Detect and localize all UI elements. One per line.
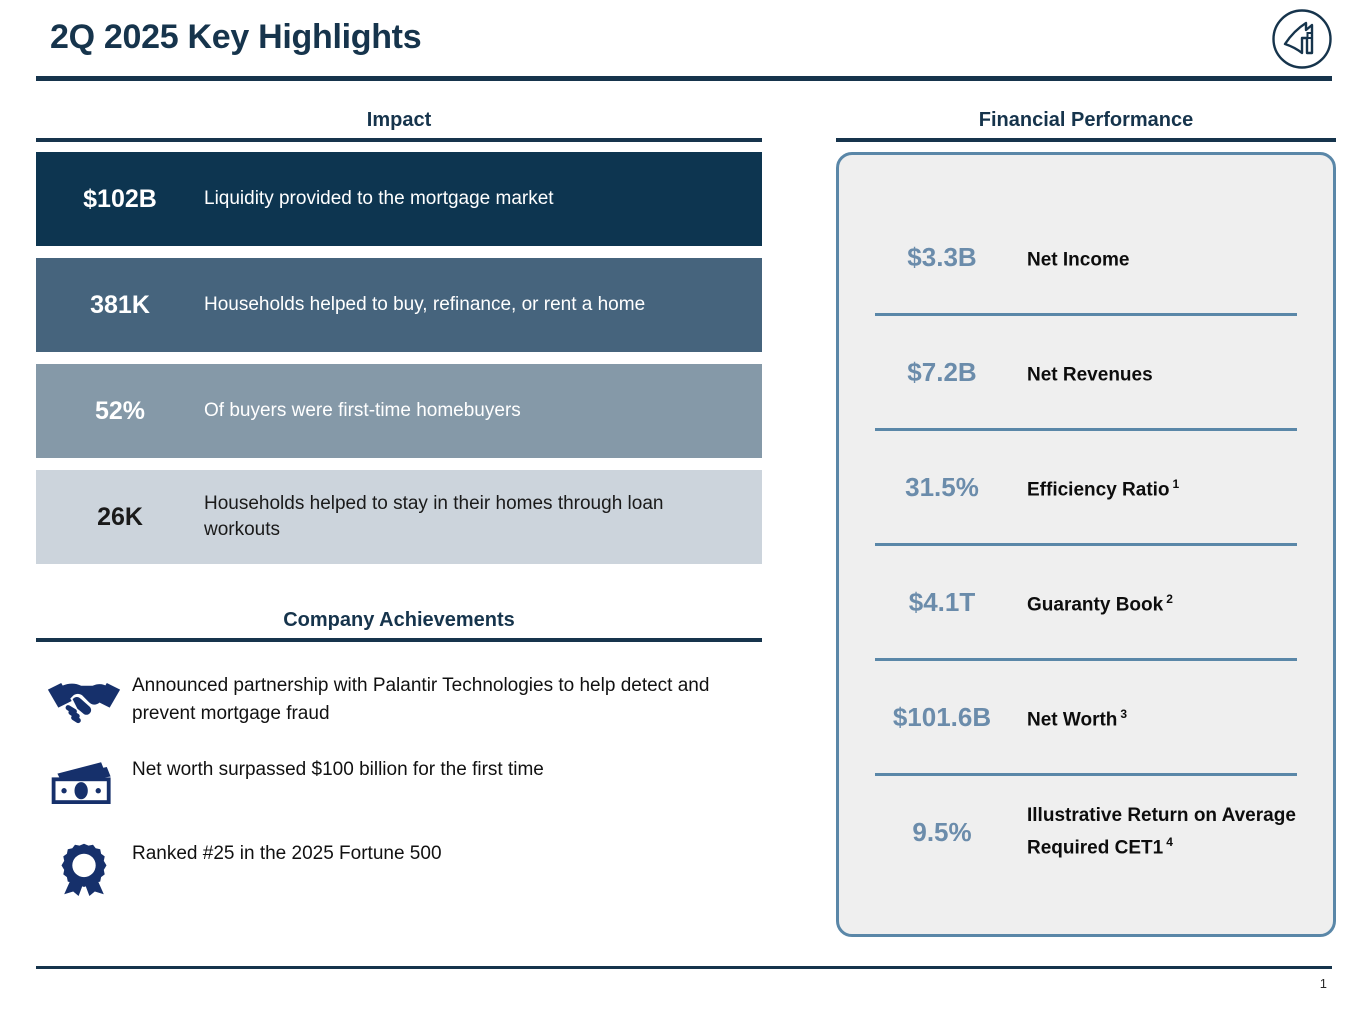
financial-metric-row: $7.2B Net Revenues: [839, 316, 1333, 428]
impact-bar: 52% Of buyers were first-time homebuyers: [36, 364, 762, 458]
cash-icon: [36, 752, 132, 816]
achievement-item: Announced partnership with Palantir Tech…: [36, 668, 762, 752]
financial-metric-label-text: Net Worth: [1027, 709, 1117, 730]
house-circle-logo-icon: [1271, 8, 1333, 70]
impact-bar: $102B Liquidity provided to the mortgage…: [36, 152, 762, 246]
footnote-marker: [1129, 247, 1132, 261]
achievement-text: Ranked #25 in the 2025 Fortune 500: [132, 836, 762, 868]
impact-bar: 26K Households helped to stay in their h…: [36, 470, 762, 564]
impact-bar-label: Households helped to buy, refinance, or …: [204, 292, 762, 318]
header-divider: [36, 76, 1332, 81]
financial-heading-rule: [836, 138, 1336, 142]
financial-metric-label: Illustrative Return on Average Required …: [1017, 803, 1305, 861]
financial-metric-value: $7.2B: [867, 357, 1017, 387]
footnote-marker: 1: [1170, 477, 1180, 491]
financial-metric-label-text: Net Revenues: [1027, 364, 1153, 385]
achievement-text: Announced partnership with Palantir Tech…: [132, 668, 762, 728]
achievement-item: Net worth surpassed $100 billion for the…: [36, 752, 762, 836]
financial-metric-row: $101.6B Net Worth3: [839, 661, 1333, 773]
financial-metric-label-text: Illustrative Return on Average Required …: [1027, 805, 1296, 858]
page-number: 1: [1320, 976, 1327, 991]
financial-metric-label: Efficiency Ratio1: [1017, 471, 1305, 503]
footnote-marker: 3: [1117, 707, 1127, 721]
impact-section: Impact $102B Liquidity provided to the m…: [36, 108, 762, 576]
financial-metrics-card: $3.3B Net Income $7.2B Net Revenues 31.5…: [836, 152, 1336, 937]
financial-metric-row: 31.5% Efficiency Ratio1: [839, 431, 1333, 543]
financial-metric-value: $101.6B: [867, 702, 1017, 732]
slide-header: 2Q 2025 Key Highlights: [0, 0, 1365, 82]
impact-bar-label: Liquidity provided to the mortgage marke…: [204, 186, 762, 212]
footnote-marker: [1153, 362, 1156, 376]
impact-bar: 381K Households helped to buy, refinance…: [36, 258, 762, 352]
footnote-marker: 4: [1163, 835, 1173, 849]
achievements-heading: Company Achievements: [36, 608, 762, 632]
handshake-icon: [36, 668, 132, 732]
impact-bar-value: $102B: [36, 185, 204, 213]
footer-divider: [36, 966, 1332, 969]
impact-bar-value: 52%: [36, 397, 204, 425]
award-ribbon-icon: [36, 836, 132, 900]
financial-metric-value: 9.5%: [867, 817, 1017, 847]
financial-metric-label-text: Efficiency Ratio: [1027, 479, 1170, 500]
impact-bar-label: Of buyers were first-time homebuyers: [204, 398, 762, 424]
financial-metric-row: $4.1T Guaranty Book2: [839, 546, 1333, 658]
financial-metric-label: Net Income: [1017, 241, 1305, 273]
achievement-text: Net worth surpassed $100 billion for the…: [132, 752, 762, 784]
financial-metric-label: Net Revenues: [1017, 356, 1305, 388]
financial-metric-label: Guaranty Book2: [1017, 586, 1305, 618]
page-title: 2Q 2025 Key Highlights: [50, 18, 421, 57]
financial-metric-value: $4.1T: [867, 587, 1017, 617]
footnote-marker: 2: [1163, 592, 1173, 606]
financial-metric-row: 9.5% Illustrative Return on Average Requ…: [839, 776, 1333, 888]
financial-heading: Financial Performance: [836, 108, 1336, 132]
achievements-heading-rule: [36, 638, 762, 642]
impact-heading-rule: [36, 138, 762, 142]
financial-metric-value: $3.3B: [867, 242, 1017, 272]
impact-bar-label: Households helped to stay in their homes…: [204, 491, 762, 543]
financial-performance-section: Financial Performance $3.3B Net Income $…: [836, 108, 1336, 937]
impact-bar-list: $102B Liquidity provided to the mortgage…: [36, 152, 762, 564]
financial-metric-label: Net Worth3: [1017, 701, 1305, 733]
impact-heading: Impact: [36, 108, 762, 132]
impact-bar-value: 381K: [36, 291, 204, 319]
financial-metric-label-text: Guaranty Book: [1027, 594, 1163, 615]
impact-bar-value: 26K: [36, 503, 204, 531]
financial-metric-label-text: Net Income: [1027, 249, 1129, 270]
achievement-list: Announced partnership with Palantir Tech…: [36, 668, 762, 920]
financial-metric-row: $3.3B Net Income: [839, 201, 1333, 313]
achievement-item: Ranked #25 in the 2025 Fortune 500: [36, 836, 762, 920]
financial-metric-value: 31.5%: [867, 472, 1017, 502]
company-achievements-section: Company Achievements Announced partn: [36, 608, 762, 920]
